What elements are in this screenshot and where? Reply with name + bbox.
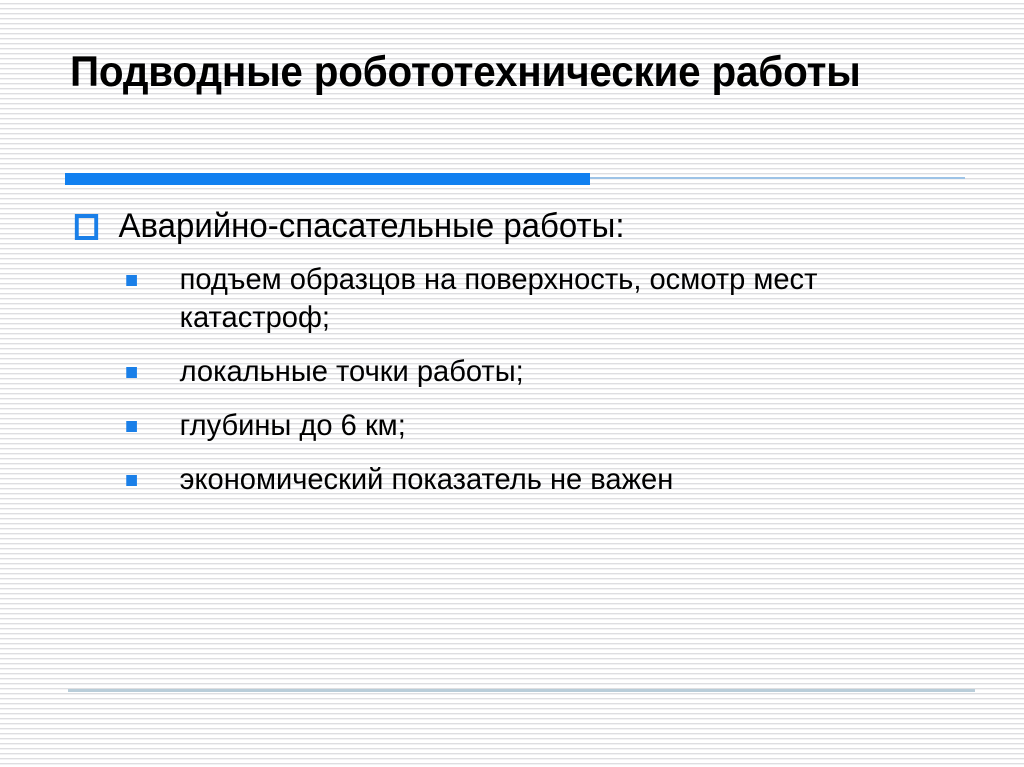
bullet-level1-label: Аварийно-спасательные работы: — [119, 207, 625, 245]
title-divider-accent-bar — [65, 173, 590, 185]
list-item: экономический показатель не важен — [70, 461, 953, 499]
title-divider — [65, 173, 965, 185]
filled-square-marker-icon — [126, 275, 137, 286]
footer-rule — [68, 689, 975, 692]
list-item: глубины до 6 км; — [70, 407, 953, 445]
slide-title-block: Подводные робототехнические работы — [70, 48, 970, 96]
page-title: Подводные робототехнические работы — [70, 48, 916, 96]
bullet-level1-item: Аварийно-спасательные работы: — [70, 205, 953, 247]
bullet-level2-label: локальные точки работы; — [180, 355, 524, 388]
bullet-level2-label: экономический показатель не важен — [180, 463, 674, 496]
bullet-level2-label: глубины до 6 км; — [180, 409, 406, 442]
filled-square-marker-icon — [126, 421, 137, 432]
slide-body: Аварийно-спасательные работы: подъем обр… — [70, 205, 980, 515]
list-item: подъем образцов на поверхность, осмотр м… — [70, 261, 953, 337]
presentation-slide: Подводные робототехнические работы Авари… — [0, 0, 1024, 767]
bullet-level2-list: подъем образцов на поверхность, осмотр м… — [70, 261, 980, 499]
list-item: локальные точки работы; — [70, 353, 953, 391]
hollow-square-marker-icon — [75, 214, 98, 240]
bullet-level2-label: подъем образцов на поверхность, осмотр м… — [180, 263, 818, 334]
filled-square-marker-icon — [126, 475, 137, 486]
filled-square-marker-icon — [126, 367, 137, 378]
